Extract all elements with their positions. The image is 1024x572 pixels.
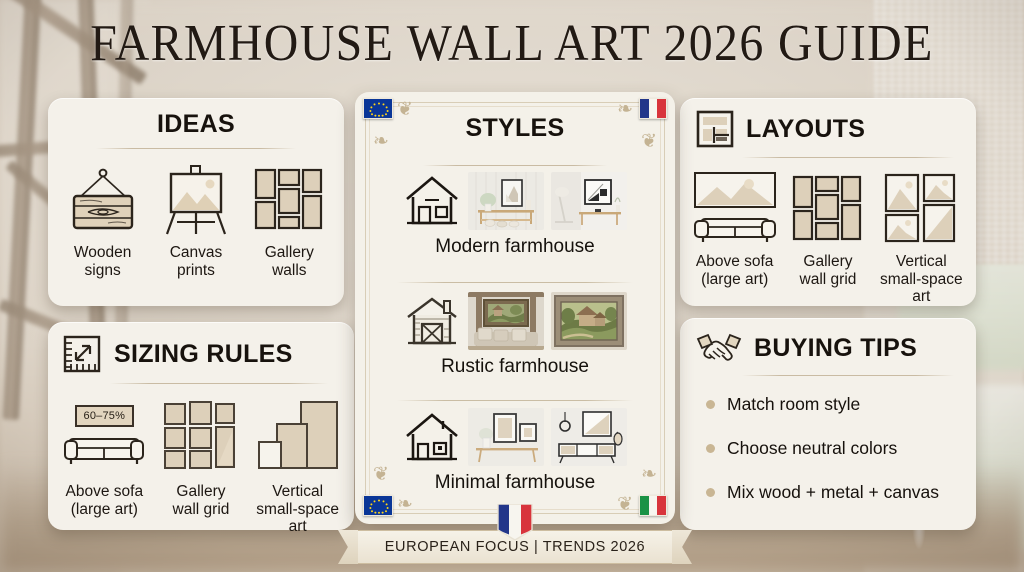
sizing-item-above-sofa[interactable]: 60–75% Above sofa (large art) [58,396,151,518]
tips-title: BUYING TIPS [754,334,917,363]
vertical-stack-icon [255,396,341,476]
layouts-item-above-sofa[interactable]: Above sofa (large art) [690,170,780,288]
handshake-icon [696,330,742,366]
style-row-modern[interactable]: Modern farmhouse [379,172,651,258]
ideas-item-canvas-prints[interactable]: Canvas prints [151,163,241,279]
italy-flag-bottom-right [639,495,667,516]
tip-text: Choose neutral colors [727,438,897,459]
sizing-percent-badge: 60–75% [75,405,135,427]
sizing-title: SIZING RULES [114,340,293,369]
styles-title: STYLES [355,114,675,143]
ruler-measure-icon [62,334,102,374]
sizing-divider [110,383,328,384]
style-name: Modern farmhouse [435,236,594,258]
layouts-item-gallery-grid[interactable]: Gallery wall grid [783,170,873,288]
ideas-item-label: Canvas prints [170,244,223,279]
layouts-header: LAYOUTS [680,98,976,148]
card-sizing-rules: SIZING RULES 60–75% Abo [48,322,354,530]
ideas-item-label: Wooden signs [74,244,131,279]
list-item[interactable]: Match room style [706,382,976,426]
rustic-framed-landscape-painting-photo [551,292,627,350]
tips-header: BUYING TIPS [680,318,976,366]
tips-list: Match room style Choose neutral colors M… [680,376,976,514]
sizing-item-label: Vertical small-space art [251,483,344,536]
ideas-item-gallery-walls[interactable]: Gallery walls [245,163,335,279]
sizing-item-vertical[interactable]: Vertical small-space art [251,396,344,536]
wooden-sign-icon [64,163,142,237]
minimal-console-frames-photo [468,408,544,466]
style-row-minimal[interactable]: Minimal farmhouse [379,408,651,494]
gallery-wall-icon [250,163,328,237]
layouts-item-label: Above sofa (large art) [696,253,774,288]
sofa-with-art-icon: 60–75% [63,396,145,476]
sizing-items: 60–75% Above sofa (large art) [48,396,354,536]
house-minimal-icon [403,409,461,465]
minimal-sideboard-frames-photo [551,408,627,466]
style-row-divider [397,282,633,283]
modern-bench-artwork-photo [551,172,627,230]
bullet-dot-icon [706,488,715,497]
style-name: Rustic farmhouse [441,356,589,378]
tip-text: Match room style [727,394,860,415]
style-row-visuals [403,408,627,466]
barn-outline-icon [403,293,461,349]
tip-text: Mix wood + metal + canvas [727,482,939,503]
layouts-items: Above sofa (large art) [680,170,976,306]
sofa-landscape-icon [693,170,777,246]
easel-canvas-icon [157,163,235,237]
style-row-visuals [403,292,627,350]
gallery-grid-icon [161,396,241,476]
sizing-item-gallery-grid[interactable]: Gallery wall grid [155,396,248,518]
ideas-item-wooden-signs[interactable]: Wooden signs [58,163,148,279]
banner-text: EUROPEAN FOCUS | TRENDS 2026 [385,539,645,555]
style-row-visuals [403,172,627,230]
ideas-title: IDEAS [157,110,235,139]
list-item[interactable]: Mix wood + metal + canvas [706,470,976,514]
style-row-rustic[interactable]: Rustic farmhouse [379,292,651,378]
layouts-divider [742,157,954,158]
layout-wireframe-icon [696,110,734,148]
bullet-dot-icon [706,444,715,453]
ideas-item-label: Gallery walls [265,244,314,279]
ornament-swirl-icon: ❦ [617,495,633,514]
list-item[interactable]: Choose neutral colors [706,426,976,470]
ideas-items: Wooden signs Canvas [48,163,344,279]
modern-console-artwork-photo [468,172,544,230]
gallery-grid-icon [791,170,865,246]
sizing-item-label: Above sofa (large art) [66,483,144,518]
styles-divider [423,165,607,166]
infographic-canvas: FARMHOUSE WALL ART 2026 GUIDE IDEAS [0,0,1024,572]
card-ideas: IDEAS Wooden [48,98,344,306]
sizing-item-label: Gallery wall grid [173,483,230,518]
layouts-item-label: Vertical small-space art [880,253,963,306]
eu-flag-bottom-left [363,495,393,516]
ideas-header: IDEAS [48,98,344,139]
bullet-dot-icon [706,400,715,409]
layouts-title: LAYOUTS [746,115,865,144]
ideas-divider [96,148,296,149]
vertical-frames-icon [884,170,958,246]
house-outline-icon [403,173,461,229]
card-layouts: LAYOUTS [680,98,976,306]
style-name: Minimal farmhouse [435,472,596,494]
ornament-swirl-icon: ❧ [397,495,413,514]
sizing-header: SIZING RULES [48,322,354,374]
card-buying-tips: BUYING TIPS Match room style Choose neut… [680,318,976,530]
page-title: FARMHOUSE WALL ART 2026 GUIDE [41,14,983,73]
rustic-sofa-landscape-painting-photo [468,292,544,350]
panel-styles: ❦ ❧ ❧ ❦ ❧ ❦ ❦ ❧ STYLES [355,92,675,524]
style-row-divider [397,400,633,401]
layouts-item-vertical[interactable]: Vertical small-space art [877,170,967,306]
france-flag-ribbon [496,504,534,540]
layouts-item-label: Gallery wall grid [800,253,857,288]
